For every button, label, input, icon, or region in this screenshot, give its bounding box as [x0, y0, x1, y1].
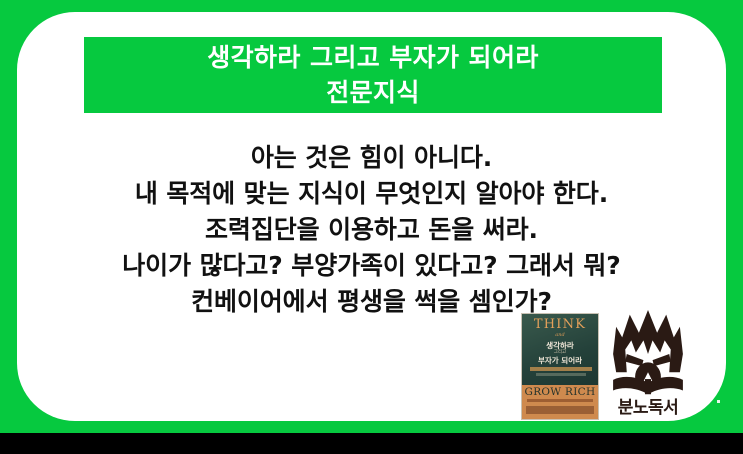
corner-dot [717, 400, 720, 403]
bottom-black-bar [0, 433, 743, 454]
body-line-1: 아는 것은 힘이 아니다. [22, 140, 721, 176]
book-title-english: THINK [522, 318, 598, 331]
book-subtitle-english: GROW RICH [522, 386, 598, 398]
title-line-1: 생각하라 그리고 부자가 되어라 [207, 40, 539, 76]
slide: 생각하라 그리고 부자가 되어라 전문지식 아는 것은 힘이 아니다. 내 목적… [0, 0, 743, 454]
book-cover-blurb-1 [527, 399, 593, 402]
body-line-3: 조력집단을 이용하고 돈을 써라. [22, 212, 721, 248]
book-title-connector: and [522, 332, 598, 338]
book-cover-image: THINK and 생각하라 그리고 부자가 되어라 GROW RICH [521, 313, 599, 420]
body-line-4: 나이가 많다고? 부양가족이 있다고? 그래서 뭐? [22, 248, 721, 284]
book-cover-accent-bar-2 [536, 373, 586, 376]
brand-logo-label: 분노독서 [610, 393, 686, 418]
angry-face-book-icon [610, 307, 686, 395]
book-cover-blurb-2 [526, 406, 594, 414]
body-line-2: 내 목적에 맞는 지식이 무엇인지 알아야 한다. [22, 176, 721, 212]
book-cover-accent-bar [530, 367, 592, 371]
book-cover-band: GROW RICH [522, 385, 598, 419]
brand-logo: 분노독서 [610, 307, 686, 423]
body-text-block: 아는 것은 힘이 아니다. 내 목적에 맞는 지식이 무엇인지 알아야 한다. … [22, 140, 721, 320]
book-title-korean-3: 부자가 되어라 [522, 355, 598, 366]
title-line-2: 전문지식 [326, 75, 420, 111]
title-banner: 생각하라 그리고 부자가 되어라 전문지식 [84, 37, 662, 113]
